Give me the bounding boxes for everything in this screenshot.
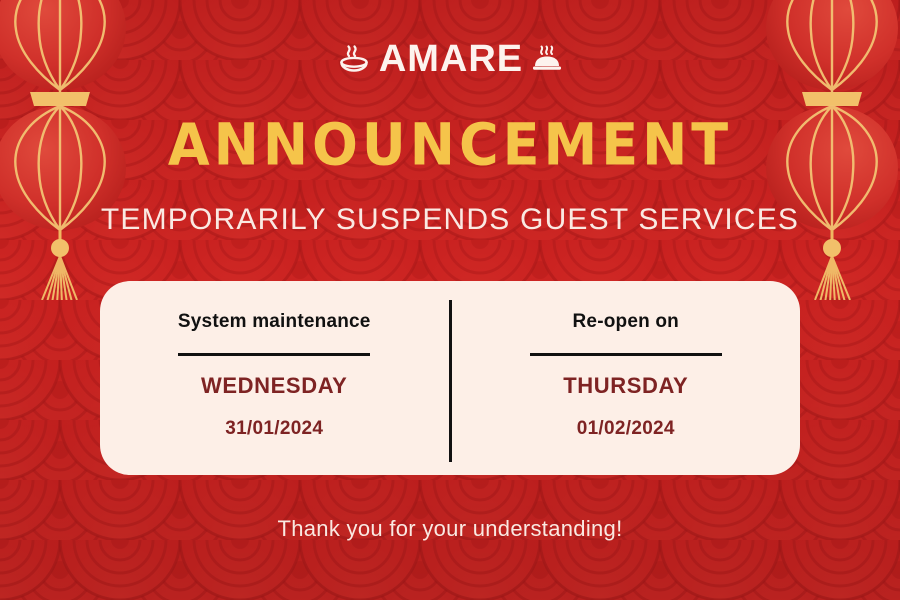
reopen-heading: Re-open on (573, 312, 680, 331)
maintenance-heading: System maintenance (178, 312, 371, 331)
announcement-poster: AMARE ANNOUNCEMENT TEMPORARILY SUSPENDS … (0, 0, 900, 600)
reopen-rule (530, 353, 722, 356)
page-title: ANNOUNCEMENT (0, 116, 900, 174)
page-subtitle: TEMPORARILY SUSPENDS GUEST SERVICES (0, 205, 900, 235)
brand-logo: AMARE (0, 40, 900, 78)
reopen-day: THURSDAY (563, 375, 688, 397)
hot-spring-basin-icon (531, 43, 563, 75)
brand-name: AMARE (379, 40, 523, 78)
reopen-column: Re-open on THURSDAY 01/02/2024 (452, 281, 801, 475)
onsen-steam-icon (337, 42, 371, 76)
maintenance-day: WEDNESDAY (201, 375, 347, 397)
maintenance-rule (178, 353, 370, 356)
reopen-date: 01/02/2024 (577, 419, 675, 438)
maintenance-date: 31/01/2024 (225, 419, 323, 438)
schedule-card: System maintenance WEDNESDAY 31/01/2024 … (100, 281, 800, 475)
maintenance-column: System maintenance WEDNESDAY 31/01/2024 (100, 281, 449, 475)
footer-message: Thank you for your understanding! (0, 518, 900, 540)
